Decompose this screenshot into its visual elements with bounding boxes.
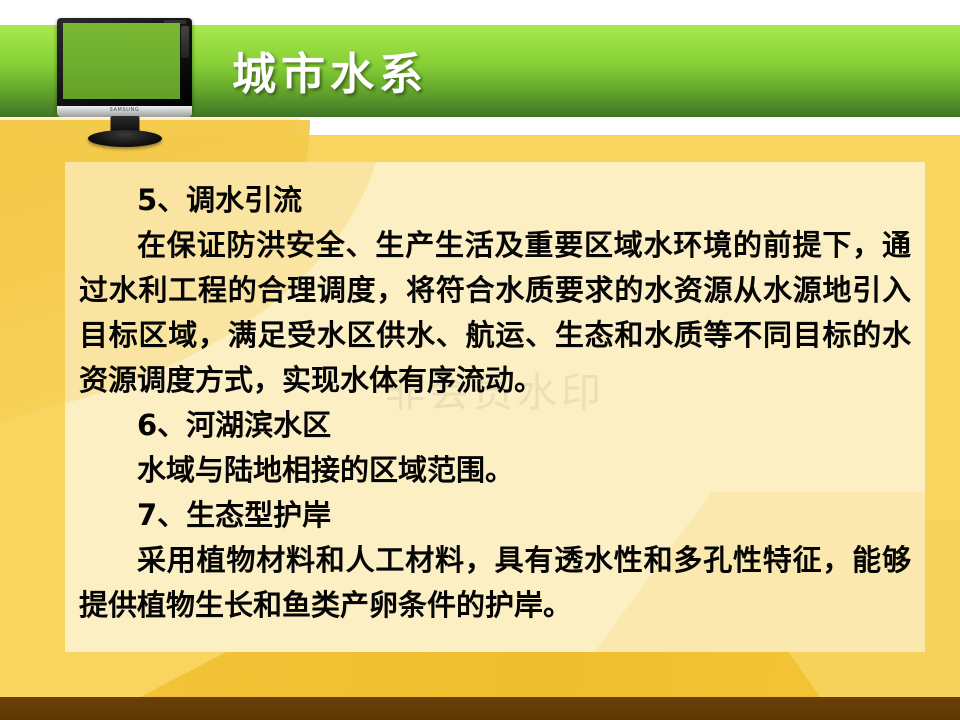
monitor-bezel	[57, 18, 192, 112]
slide-bottom-bar	[0, 697, 960, 720]
body-paragraph-4: 水域与陆地相接的区域范围。	[79, 448, 911, 493]
body-paragraph-5: 7、生态型护岸	[79, 493, 911, 538]
body-paragraph-6: 采用植物材料和人工材料，具有透水性和多孔性特征，能够提供植物生长和鱼类产卵条件的…	[79, 538, 911, 628]
body-paragraph-3: 6、河湖滨水区	[79, 403, 911, 448]
monitor-brand-label: SAMSUNG	[110, 107, 140, 113]
content-panel: 非会员水印 5、调水引流 在保证防洪安全、生产生活及重要区域水环境的前提下，通过…	[65, 162, 925, 652]
monitor-stand-base	[88, 130, 162, 147]
monitor-icon: SAMSUNG	[57, 18, 192, 145]
body-paragraph-2: 在保证防洪安全、生产生活及重要区域水环境的前提下，通过水利工程的合理调度，将符合…	[79, 223, 911, 403]
monitor-screen	[63, 23, 180, 99]
body-paragraph-1: 5、调水引流	[79, 178, 911, 223]
presentation-slide: 城市水系 SAMSUNG 非会员水印 5、调水引流 在保证防洪安全、生产生活及重…	[0, 0, 960, 720]
page-title: 城市水系	[232, 38, 428, 102]
monitor-buttons	[181, 26, 189, 58]
slide-body-text: 5、调水引流 在保证防洪安全、生产生活及重要区域水环境的前提下，通过水利工程的合…	[65, 178, 925, 628]
